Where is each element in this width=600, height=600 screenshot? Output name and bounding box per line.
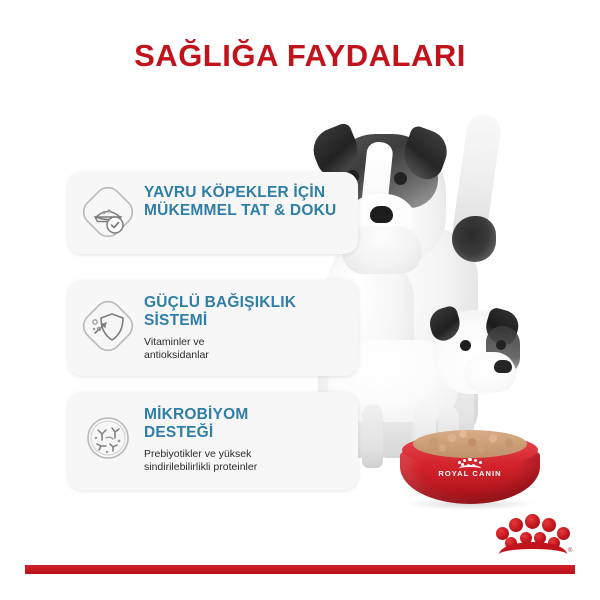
benefit-heading: YAVRU KÖPEKLER İÇİN MÜKEMMEL TAT & DOKU — [144, 184, 336, 221]
benefit-card-immunity[interactable]: GÜÇLÜ BAĞIŞIKLIK SİSTEMİ Vitaminler ve a… — [68, 280, 358, 376]
benefits-list: YAVRU KÖPEKLER İÇİN MÜKEMMEL TAT & DOKU … — [0, 0, 600, 600]
benefit-card-taste-texture[interactable]: YAVRU KÖPEKLER İÇİN MÜKEMMEL TAT & DOKU — [68, 172, 358, 254]
shield-immunity-icon — [82, 300, 134, 352]
benefit-heading: MİKROBİYOM DESTEĞİ — [144, 406, 257, 443]
crown-arc — [499, 542, 567, 567]
microbiome-icon — [82, 412, 134, 464]
page-title: SAĞLIĞA FAYDALARI — [0, 38, 600, 74]
red-divider-bar — [25, 565, 575, 574]
bowl-check-icon — [82, 186, 134, 238]
royal-canin-crown-icon: ® — [494, 512, 574, 556]
benefit-card-text: MİKROBİYOM DESTEĞİ Prebiyotikler ve yüks… — [144, 392, 265, 475]
benefit-heading: GÜÇLÜ BAĞIŞIKLIK SİSTEMİ — [144, 294, 296, 331]
benefit-subtitle: Prebiyotikler ve yüksek sindirilebilirli… — [144, 448, 257, 476]
product-benefits-graphic: ROYAL CANIN SAĞLIĞA FAYDALARI YAVRU KÖPE… — [0, 0, 600, 600]
benefit-card-text: YAVRU KÖPEKLER İÇİN MÜKEMMEL TAT & DOKU — [144, 172, 344, 221]
benefit-subtitle: Vitaminler ve antioksidanlar — [144, 336, 296, 364]
benefit-card-microbiome[interactable]: MİKROBİYOM DESTEĞİ Prebiyotikler ve yüks… — [68, 392, 358, 490]
registered-mark: ® — [568, 548, 572, 554]
benefit-card-text: GÜÇLÜ BAĞIŞIKLIK SİSTEMİ Vitaminler ve a… — [144, 280, 304, 363]
